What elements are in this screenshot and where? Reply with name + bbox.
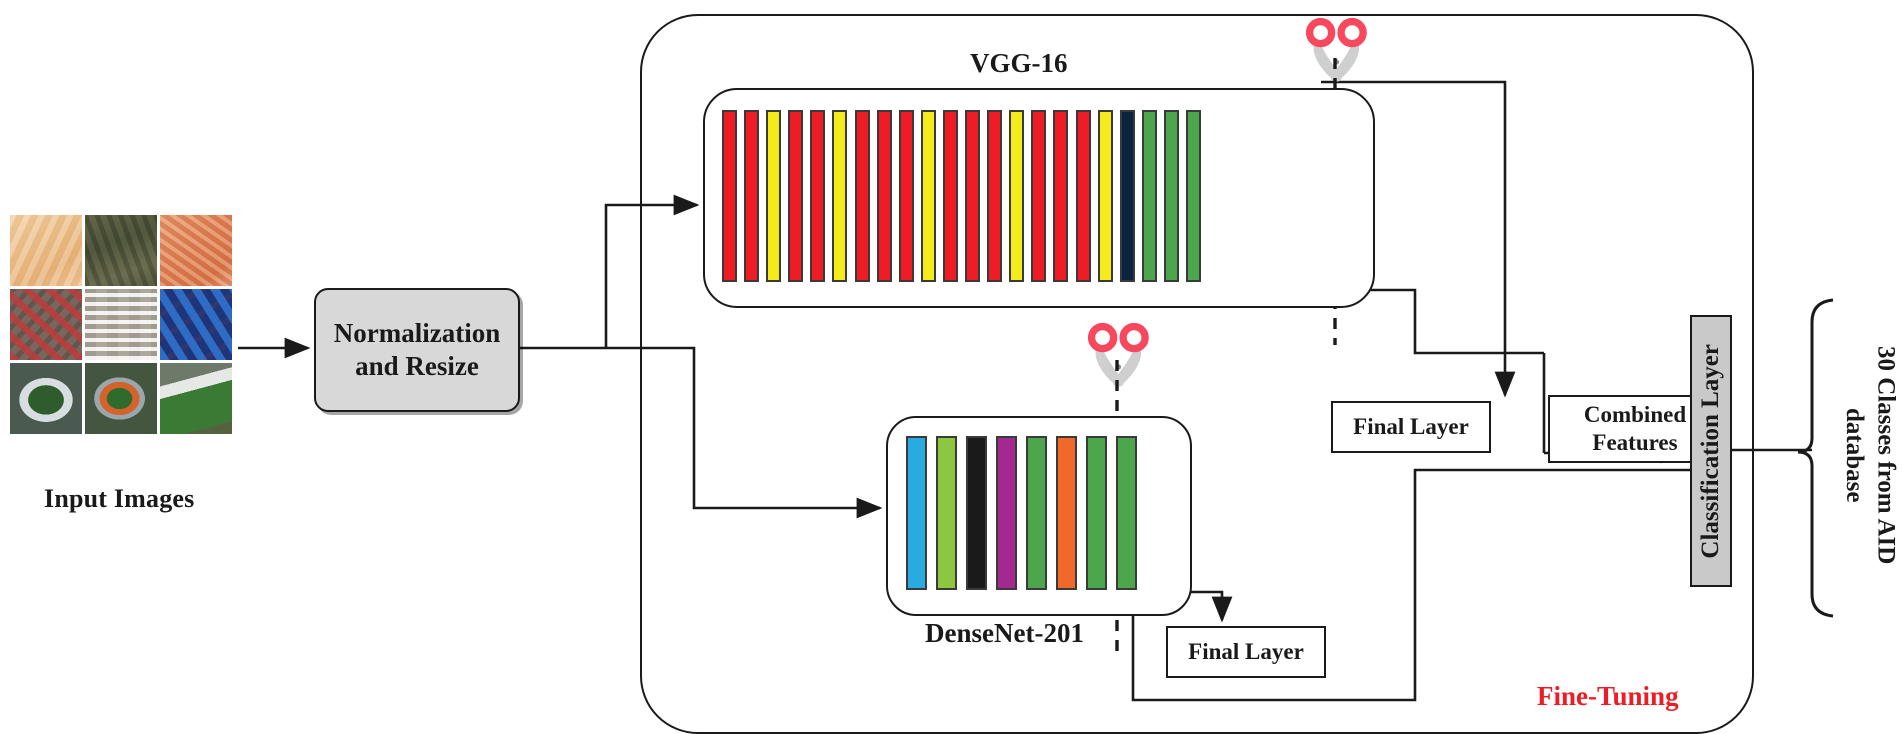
vgg-title: VGG-16 <box>970 48 1068 79</box>
normalization-and-resize-box: Normalization and Resize <box>314 288 520 412</box>
fine-tuning-label: Fine-Tuning <box>1537 681 1679 712</box>
layer-bar-conv-5 <box>810 110 825 282</box>
output-classes-label: 30 Classes from AID database <box>1840 305 1900 605</box>
densenet-layer-bars <box>906 436 1137 590</box>
layer-bar-flatten-19 <box>1120 110 1135 282</box>
layer-bar-conv-4 <box>788 110 803 282</box>
input-thumbnail <box>10 215 82 286</box>
layer-bar-pool-14 <box>1009 110 1024 282</box>
combined-features-line2: Features <box>1592 429 1677 457</box>
layer-bar-pool-3 <box>766 110 781 282</box>
final-layer-box-vgg: Final Layer <box>1331 401 1491 453</box>
input-thumbnail <box>10 289 82 360</box>
layer-bar-conv-13 <box>987 110 1002 282</box>
input-thumbnail <box>85 289 157 360</box>
layer-bar-conv-17 <box>1076 110 1091 282</box>
densenet-title: DenseNet-201 <box>925 618 1084 649</box>
layer-bar-transition-3 <box>966 436 987 590</box>
input-thumbnail <box>160 289 232 360</box>
classification-layer-box: Classification Layer <box>1690 315 1732 587</box>
output-brace <box>1798 300 1833 616</box>
classification-layer-label: Classification Layer <box>1697 344 1725 559</box>
diagram-canvas: Input Images Normalization and Resize VG… <box>0 0 1902 733</box>
layer-bar-fc-8 <box>1116 436 1137 590</box>
input-thumbnail <box>85 215 157 286</box>
layer-bar-conv-16 <box>1053 110 1068 282</box>
normalization-line2: and Resize <box>355 350 479 383</box>
input-thumbnail <box>160 363 232 434</box>
layer-bar-conv-15 <box>1031 110 1046 282</box>
layer-bar-fc-22 <box>1186 110 1201 282</box>
layer-bar-dense-block-5 <box>1026 436 1047 590</box>
layer-bar-dense-block-2 <box>936 436 957 590</box>
layer-bar-fc-20 <box>1142 110 1157 282</box>
layer-bar-dense-block-4 <box>996 436 1017 590</box>
vgg-layer-bars <box>722 110 1201 282</box>
layer-bar-pool-6 <box>832 110 847 282</box>
layer-bar-pool-18 <box>1098 110 1113 282</box>
input-thumbnail <box>160 215 232 286</box>
layer-bar-conv-9 <box>899 110 914 282</box>
input-thumbnail <box>85 363 157 434</box>
layer-bar-conv-12 <box>965 110 980 282</box>
layer-bar-dense-block-7 <box>1086 436 1107 590</box>
input-image-grid <box>10 215 232 440</box>
final-layer-box-densenet: Final Layer <box>1166 626 1326 678</box>
layer-bar-conv-7 <box>855 110 870 282</box>
layer-bar-conv-2 <box>744 110 759 282</box>
layer-bar-conv-1 <box>722 110 737 282</box>
input-images-caption: Input Images <box>44 484 195 514</box>
normalization-line1: Normalization <box>334 317 500 350</box>
output-classes-text: 30 Classes from AID database <box>1839 305 1902 605</box>
layer-bar-pool-10 <box>921 110 936 282</box>
layer-bar-conv-11 <box>943 110 958 282</box>
input-thumbnail <box>10 363 82 434</box>
layer-bar-transition-6 <box>1056 436 1077 590</box>
layer-bar-input-conv-1 <box>906 436 927 590</box>
combined-features-line1: Combined <box>1584 401 1686 429</box>
layer-bar-fc-21 <box>1164 110 1179 282</box>
layer-bar-conv-8 <box>877 110 892 282</box>
